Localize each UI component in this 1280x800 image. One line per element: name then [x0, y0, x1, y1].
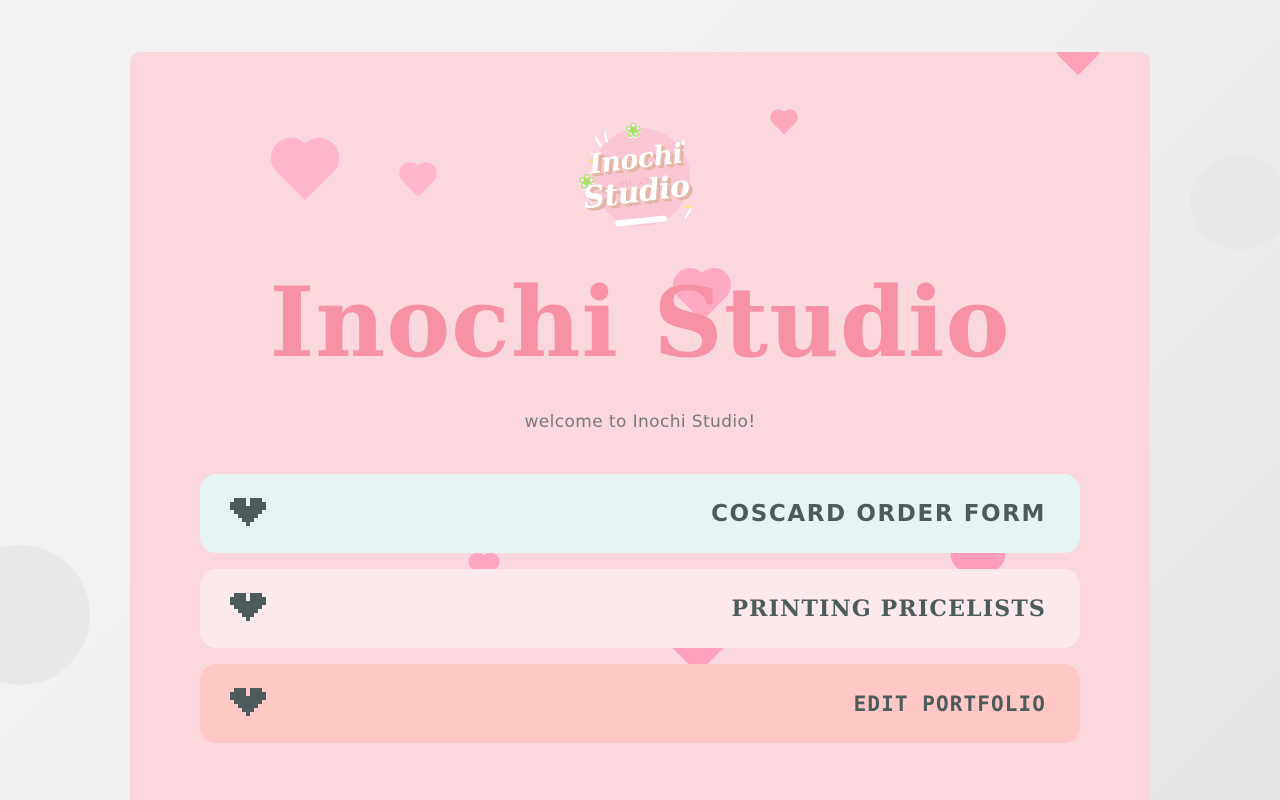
logo-mark: ❀ ❀ ✦ ✦ Inochi est. 2022 Studio [575, 120, 705, 238]
decorative-heart-icon [1060, 52, 1097, 75]
pixel-heart-icon [230, 498, 264, 530]
decorative-circle-left [0, 545, 90, 685]
menu-item-label: EDIT PORTFOLIO [854, 692, 1046, 716]
printing-pricelists-button[interactable]: PRINTING PRICELISTS [200, 569, 1080, 648]
page-title: Inochi Studio [130, 270, 1150, 376]
edit-portfolio-button[interactable]: EDIT PORTFOLIO [200, 664, 1080, 743]
logo-badge: ❀ ❀ ✦ ✦ Inochi est. 2022 Studio [130, 120, 1150, 238]
clover-icon: ❀ [625, 120, 642, 140]
main-menu: COSCARD ORDER FORM PRINTING PRICELISTS E… [200, 474, 1080, 743]
coscard-order-form-button[interactable]: COSCARD ORDER FORM [200, 474, 1080, 553]
logo-sparkle-tick [594, 136, 601, 147]
pixel-heart-icon [230, 688, 264, 720]
page-subtitle: welcome to Inochi Studio! [130, 412, 1150, 432]
decorative-circle-right [1190, 155, 1280, 250]
logo-sparkle-tick [604, 132, 608, 143]
menu-item-label: COSCARD ORDER FORM [711, 501, 1046, 527]
menu-item-label: PRINTING PRICELISTS [731, 596, 1046, 622]
app-card: ❀ ❀ ✦ ✦ Inochi est. 2022 Studio Inochi S… [130, 52, 1150, 800]
pixel-heart-icon [230, 593, 264, 625]
